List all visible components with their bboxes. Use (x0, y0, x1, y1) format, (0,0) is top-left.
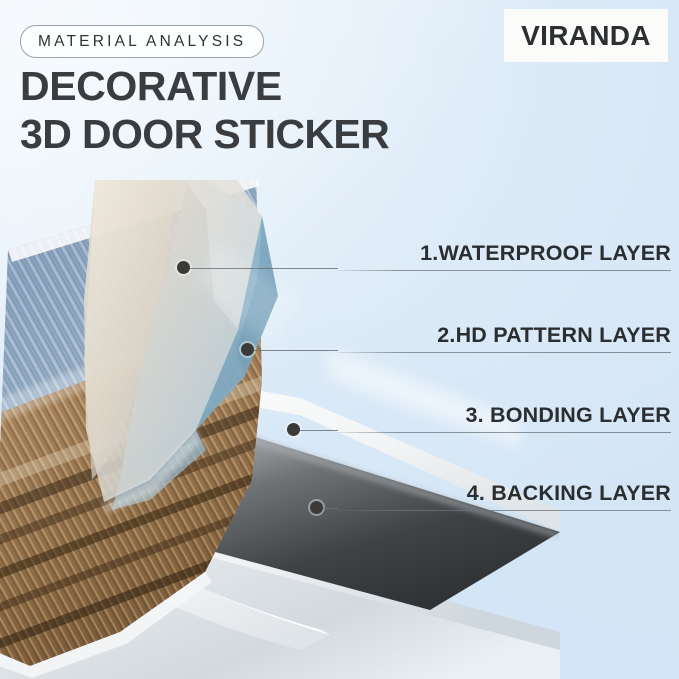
title-line-2: 3D DOOR STICKER (20, 114, 540, 154)
poster-canvas: MATERIAL ANALYSIS DECORATIVE 3D DOOR STI… (0, 0, 679, 679)
callout-rule-4 (338, 510, 671, 511)
callout-rule-2 (338, 352, 671, 353)
callout-leader-4 (323, 508, 338, 509)
callout-label-1: 1.WATERPROOF LAYER (420, 241, 671, 266)
brand-name: VIRANDA (521, 20, 651, 52)
callout-dot-1 (177, 261, 190, 274)
callout-rule-1 (338, 270, 671, 271)
brand-logo: VIRANDA (504, 9, 668, 62)
callout-dot-3 (287, 423, 300, 436)
page-title: DECORATIVE 3D DOOR STICKER (20, 66, 540, 154)
callout-leader-1 (190, 268, 338, 269)
callout-dot-2 (241, 343, 254, 356)
callout-rule-3 (338, 432, 671, 433)
callout-label-3: 3. BONDING LAYER (466, 403, 672, 428)
callout-dot-4 (310, 501, 323, 514)
callout-leader-2 (254, 350, 338, 351)
callout-leader-3 (300, 430, 338, 431)
callout-label-4: 4. BACKING LAYER (467, 481, 671, 506)
badge-label: MATERIAL ANALYSIS (38, 33, 246, 51)
title-line-1: DECORATIVE (20, 63, 282, 109)
material-analysis-badge: MATERIAL ANALYSIS (20, 25, 264, 58)
callout-label-2: 2.HD PATTERN LAYER (437, 323, 671, 348)
